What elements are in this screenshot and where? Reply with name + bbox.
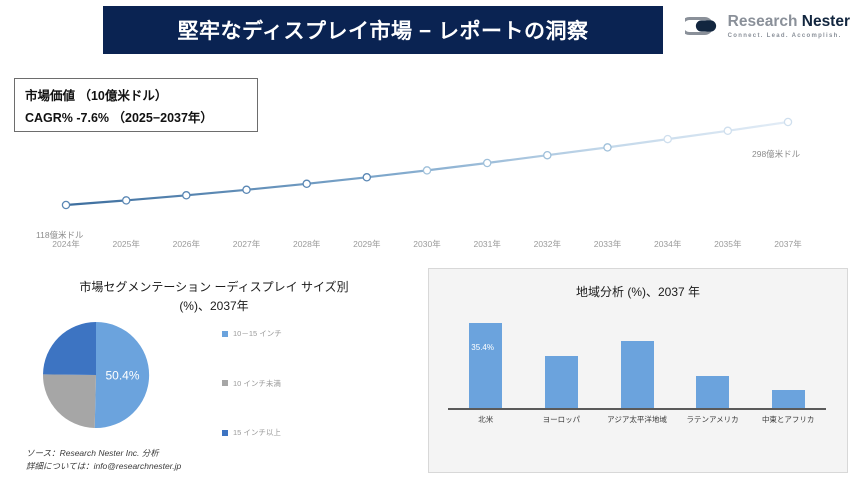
bar-value-label: 35.4% xyxy=(471,343,494,352)
legend-swatch xyxy=(222,380,228,386)
line-data-point xyxy=(123,197,130,204)
pie-legend: 10－15 インチ10 インチ未満15 インチ以上 xyxy=(222,328,327,438)
region-label: 北米 xyxy=(478,414,493,425)
pie-chart-svg: 50.4% xyxy=(14,310,214,440)
x-axis-year-label: 2029年 xyxy=(353,238,380,250)
market-value-line-chart: 118億米ドル 298億米ドル xyxy=(0,60,862,235)
x-axis-year-label: 2025年 xyxy=(112,238,139,250)
bar-chart-x-axis: 北米ヨーロッパアジア太平洋地域ラテンアメリカ中東とアフリカ xyxy=(448,414,826,430)
segmentation-title-line1: 市場セグメンテーション ーディスプレイ サイズ別 xyxy=(14,278,414,297)
regional-bar-chart: 35.4% xyxy=(448,310,833,410)
legend-label: 10 インチ未満 xyxy=(233,378,281,389)
logo-name-research: Research xyxy=(728,13,798,30)
region-label: 中東とアフリカ xyxy=(762,414,815,425)
x-axis-year-label: 2031年 xyxy=(473,238,500,250)
bar-column xyxy=(696,376,729,410)
x-axis-year-label: 2034年 xyxy=(654,238,681,250)
legend-swatch xyxy=(222,430,228,436)
line-data-point xyxy=(604,144,611,151)
pie-data-label: 50.4% xyxy=(105,368,139,382)
x-axis-year-label: 2035年 xyxy=(714,238,741,250)
logo-text: Research Nester Connect. Lead. Accomplis… xyxy=(728,14,850,39)
source-footer: ソース：Research Nester Inc. 分析 詳細については：info… xyxy=(26,447,181,473)
regional-title: 地域分析 (%)、2037 年 xyxy=(429,269,847,300)
logo-name-nester: Nester xyxy=(802,13,850,30)
x-axis-year-label: 2033年 xyxy=(594,238,621,250)
line-data-point xyxy=(664,136,671,143)
line-data-point xyxy=(484,159,491,166)
line-end-value-label: 298億米ドル xyxy=(752,148,800,160)
pie-legend-item: 10－15 インチ xyxy=(222,328,327,339)
line-data-point xyxy=(62,201,69,208)
source-line: ソース：Research Nester Inc. 分析 xyxy=(26,447,181,460)
x-axis-year-label: 2028年 xyxy=(293,238,320,250)
legend-swatch xyxy=(222,331,228,337)
x-axis-year-label: 2030年 xyxy=(413,238,440,250)
x-axis-year-label: 2026年 xyxy=(173,238,200,250)
line-data-point xyxy=(243,186,250,193)
brand-logo: Research Nester Connect. Lead. Accomplis… xyxy=(685,14,850,39)
chain-link-icon xyxy=(685,14,721,38)
line-data-point xyxy=(363,174,370,181)
legend-label: 15 インチ以上 xyxy=(233,427,281,438)
pie-slice xyxy=(43,374,96,428)
line-data-point xyxy=(423,167,430,174)
bar-chart-baseline xyxy=(448,408,826,410)
contact-line: 詳細については：info@researchnester.jp xyxy=(26,460,181,473)
line-data-point xyxy=(183,192,190,199)
pie-legend-item: 15 インチ以上 xyxy=(222,427,327,438)
x-axis-year-label: 2027年 xyxy=(233,238,260,250)
segmentation-pie-chart: 50.4% xyxy=(14,310,214,440)
region-label: アジア太平洋地域 xyxy=(607,414,667,425)
x-axis-year-label: 2037年 xyxy=(774,238,801,250)
x-axis-year-label: 2024年 xyxy=(52,238,79,250)
region-label: ラテンアメリカ xyxy=(687,414,739,425)
segmentation-title: 市場セグメンテーション ーディスプレイ サイズ別 (%)、2037年 xyxy=(14,268,414,316)
x-axis-year-label: 2032年 xyxy=(534,238,561,250)
header-band: 堅牢なディスプレイ市場 − レポートの洞察 xyxy=(103,6,663,54)
line-data-point xyxy=(544,152,551,159)
bar-column xyxy=(621,341,654,410)
infographic-page: 堅牢なディスプレイ市場 − レポートの洞察 Research Nester Co… xyxy=(0,0,862,485)
bar-column xyxy=(469,323,502,410)
line-chart-svg xyxy=(0,60,862,235)
bar-column xyxy=(545,356,578,410)
logo-tagline: Connect. Lead. Accomplish. xyxy=(728,33,850,39)
line-chart-x-axis: 2024年2025年2026年2027年2028年2029年2030年2031年… xyxy=(0,238,862,256)
legend-label: 10－15 インチ xyxy=(233,328,282,339)
pie-legend-item: 10 インチ未満 xyxy=(222,378,327,389)
line-data-point xyxy=(303,180,310,187)
region-label: ヨーロッパ xyxy=(543,414,581,425)
page-title: 堅牢なディスプレイ市場 − レポートの洞察 xyxy=(178,15,589,45)
pie-slice xyxy=(43,322,96,375)
line-data-point xyxy=(784,118,791,125)
line-data-point xyxy=(724,127,731,134)
